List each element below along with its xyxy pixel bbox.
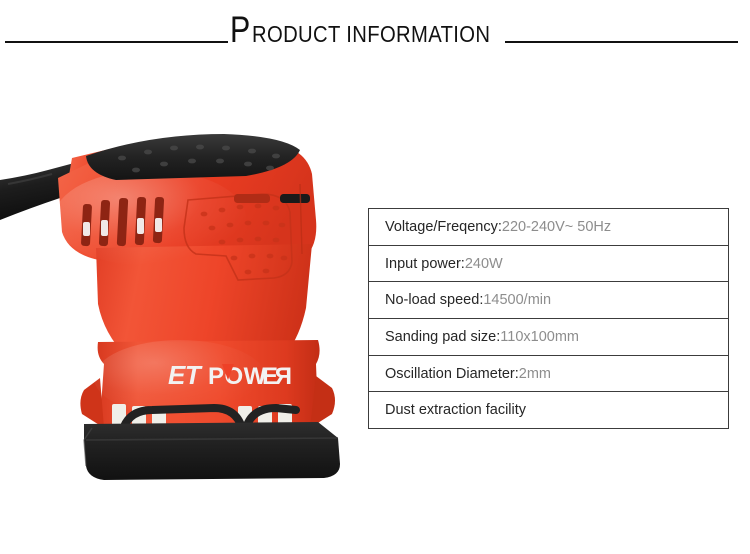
svg-text:R: R [275,363,292,390]
sander-body [54,138,335,436]
page-title: P RODUCT INFORMATION [230,11,523,53]
specification-table: Voltage/Freqency: 220-240V~ 50Hz Input p… [368,208,729,429]
spec-value: 14500/min [483,292,551,308]
spec-label: Input power: [385,256,465,272]
spec-value: 2mm [519,366,551,382]
svg-text:ET: ET [168,360,203,390]
sanding-base-pad [84,422,340,480]
sander-illustration: ET POW E R [0,128,360,488]
section-header: P RODUCT INFORMATION [0,0,750,82]
spec-value: 240W [465,256,503,272]
table-row: No-load speed: 14500/min [369,282,728,319]
spec-value: 110x100mm [500,329,579,345]
spec-label: Dust extraction facility [385,402,526,418]
page-title-rest: RODUCT INFORMATION [252,23,490,46]
product-image: ET POW E R [0,128,360,488]
spec-label: Sanding pad size: [385,329,500,345]
spec-label: Voltage/Freqency: [385,219,502,235]
page-title-initial: P [230,11,250,48]
spec-label: No-load speed: [385,292,483,308]
table-row: Input power: 240W [369,246,728,283]
svg-text:POW: POW [208,363,267,390]
table-row: Sanding pad size: 110x100mm [369,319,728,356]
header-rule-right [505,41,738,43]
spec-label: Oscillation Diameter: [385,366,519,382]
table-row: Oscillation Diameter: 2mm [369,356,728,393]
header-rule-left [5,41,228,43]
table-row: Voltage/Freqency: 220-240V~ 50Hz [369,209,728,246]
table-row: Dust extraction facility [369,392,728,428]
brand-logo: ET POW E R [168,360,292,390]
spec-value: 220-240V~ 50Hz [502,219,611,235]
product-information-page: P RODUCT INFORMATION [0,0,750,554]
